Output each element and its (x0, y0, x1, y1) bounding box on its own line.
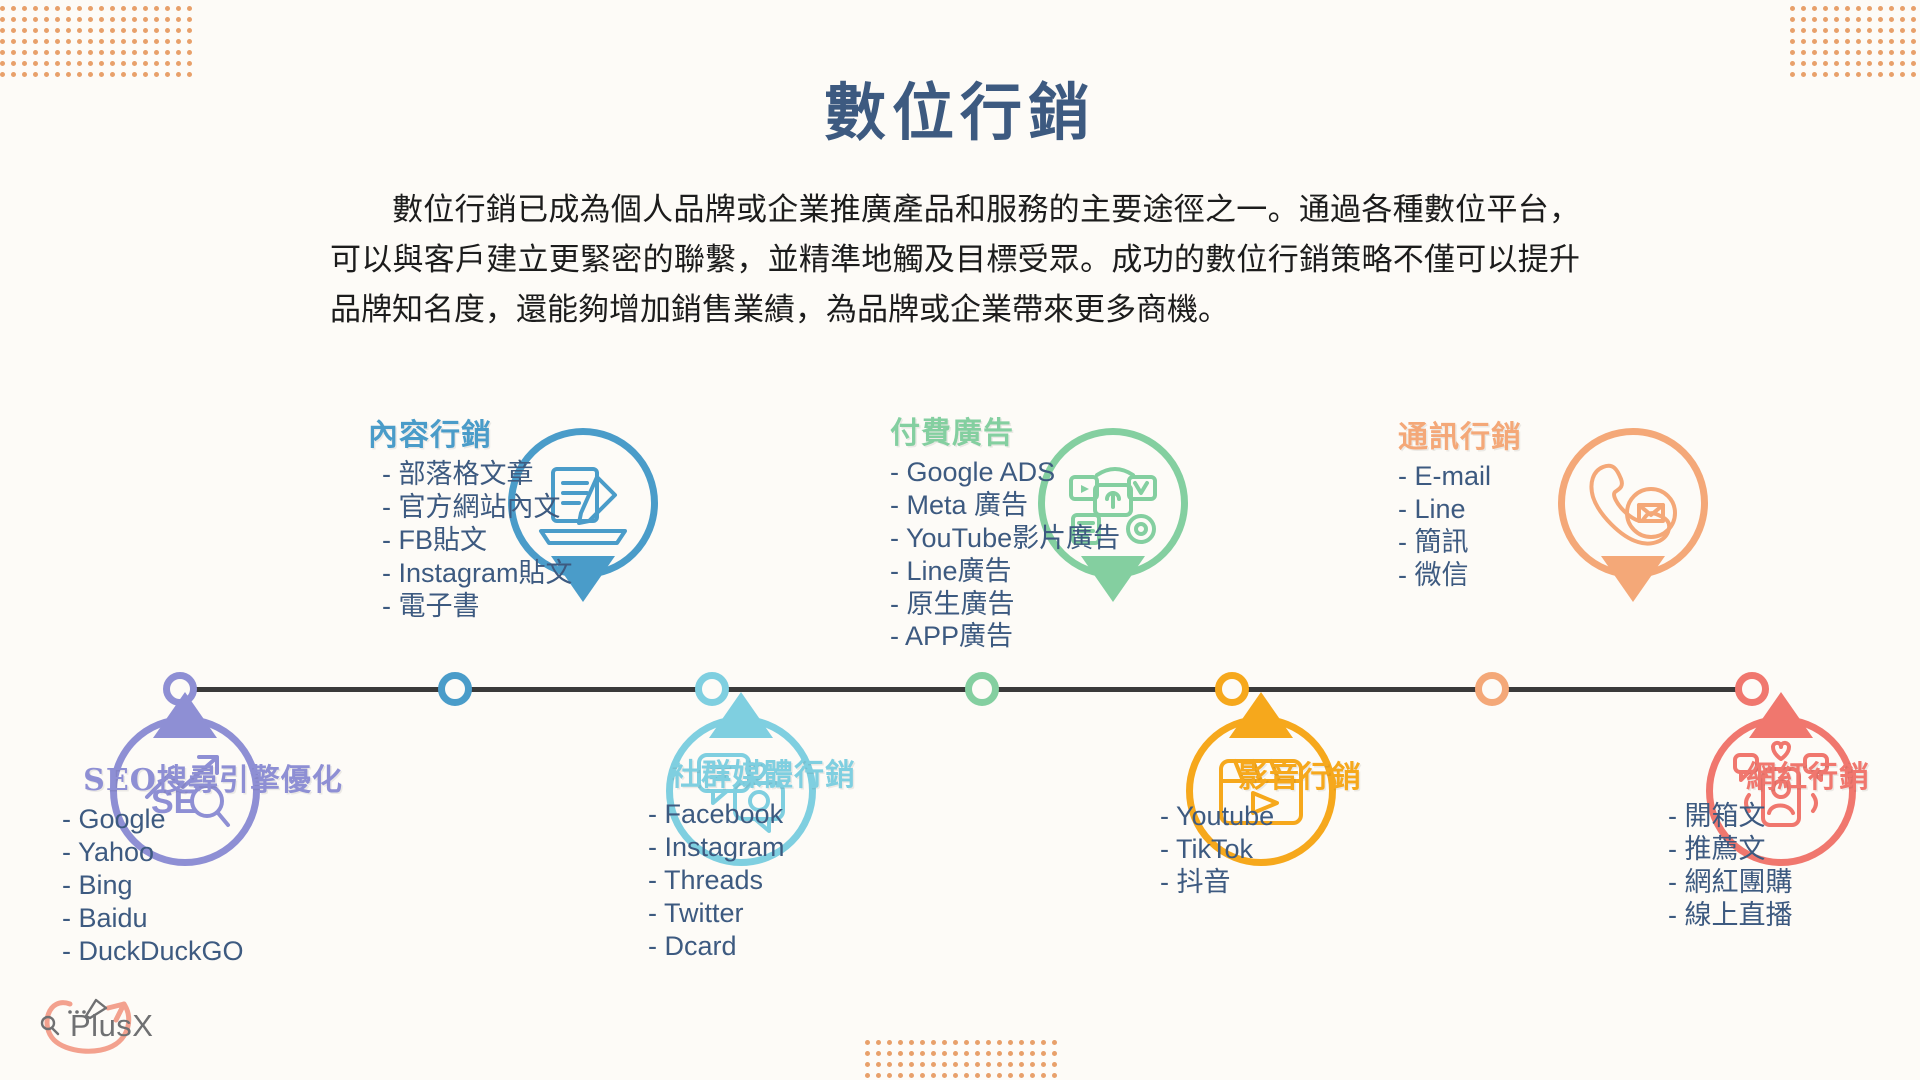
list-item: - Threads (648, 864, 928, 897)
list-item: - 線上直播 (1668, 899, 1920, 932)
dot-pattern-bottom-center (865, 1040, 1065, 1080)
section-list-content: - 部落格文章- 官方網站內文- FB貼文- Instagram貼文- 電子書 (368, 458, 698, 622)
list-item: - Facebook (648, 798, 928, 831)
list-item: - Line廣告 (890, 555, 1230, 588)
list-item: - APP廣告 (890, 620, 1230, 653)
list-item: - FB貼文 (382, 524, 698, 557)
list-item: - Instagram貼文 (382, 557, 698, 590)
section-title-seo: SEO搜尋引擎優化 (48, 755, 378, 799)
list-item: - E-mail (1398, 460, 1718, 493)
pin-tail (153, 692, 217, 738)
list-item: - 開箱文 (1668, 800, 1920, 833)
section-block-paid: 付費廣告- Google ADS- Meta 廣告- YouTube影片廣告- … (890, 408, 1230, 653)
timeline-node-paid[interactable] (965, 672, 999, 706)
list-item: - Google ADS (890, 456, 1230, 489)
list-item: - 微信 (1398, 559, 1718, 592)
list-item: - 抖音 (1160, 866, 1460, 899)
section-block-messaging: 通訊行銷- E-mail- Line- 簡訊- 微信 (1398, 412, 1718, 592)
list-item: - YouTube影片廣告 (890, 522, 1230, 555)
list-item: - 推薦文 (1668, 833, 1920, 866)
pin-tail (709, 692, 773, 738)
list-item: - 官方網站內文 (382, 491, 698, 524)
section-block-seo: SEO搜尋引擎優化- Google- Yahoo- Bing- Baidu- D… (48, 755, 378, 967)
list-item: - 電子書 (382, 590, 698, 623)
list-item: - Meta 廣告 (890, 489, 1230, 522)
section-block-video: 影音行銷- Youtube- TikTok- 抖音 (1140, 752, 1460, 899)
list-item: - Baidu (62, 902, 378, 935)
section-title-messaging: 通訊行銷 (1398, 412, 1718, 456)
section-title-video: 影音行銷 (1140, 752, 1460, 796)
list-item: - TikTok (1160, 833, 1460, 866)
section-title-social: 社群媒體行銷 (598, 750, 928, 794)
list-item: - Yahoo (62, 836, 378, 869)
list-item: - Bing (62, 869, 378, 902)
list-item: - Youtube (1160, 800, 1460, 833)
section-title-paid: 付費廣告 (890, 408, 1230, 452)
section-list-influencer: - 開箱文- 推薦文- 網紅團購- 線上直播 (1648, 800, 1920, 932)
section-list-paid: - Google ADS- Meta 廣告- YouTube影片廣告- Line… (890, 456, 1230, 653)
section-title-content: 內容行銷 (368, 410, 698, 454)
list-item: - Dcard (648, 930, 928, 963)
section-block-influencer: 網紅行銷- 開箱文- 推薦文- 網紅團購- 線上直播 (1648, 752, 1920, 932)
section-block-content: 內容行銷- 部落格文章- 官方網站內文- FB貼文- Instagram貼文- … (368, 410, 698, 622)
list-item: - 網紅團購 (1668, 866, 1920, 899)
section-block-social: 社群媒體行銷- Facebook- Instagram- Threads- Tw… (598, 750, 928, 962)
list-item: - Twitter (648, 897, 928, 930)
section-title-influencer: 網紅行銷 (1648, 752, 1920, 796)
intro-paragraph: 數位行銷已成為個人品牌或企業推廣產品和服務的主要途徑之一。通過各種數位平台，可以… (330, 185, 1580, 336)
plusx-logo: PlusX (18, 982, 178, 1062)
section-list-video: - Youtube- TikTok- 抖音 (1140, 800, 1460, 899)
timeline-node-messaging[interactable] (1475, 672, 1509, 706)
list-item: - Line (1398, 493, 1718, 526)
page-title: 數位行銷 (0, 62, 1920, 152)
list-item: - 原生廣告 (890, 588, 1230, 621)
section-list-social: - Facebook- Instagram- Threads- Twitter-… (598, 798, 928, 962)
list-item: - Google (62, 803, 378, 836)
pin-tail (1749, 692, 1813, 738)
list-item: - 簡訊 (1398, 526, 1718, 559)
section-list-seo: - Google- Yahoo- Bing- Baidu- DuckDuckGO (48, 803, 378, 967)
list-item: - 部落格文章 (382, 458, 698, 491)
timeline-node-content[interactable] (438, 672, 472, 706)
section-list-messaging: - E-mail- Line- 簡訊- 微信 (1398, 460, 1718, 592)
list-item: - DuckDuckGO (62, 935, 378, 968)
logo-text: PlusX (70, 1008, 153, 1044)
pin-tail (1229, 692, 1293, 738)
list-item: - Instagram (648, 831, 928, 864)
infographic-canvas: 數位行銷 數位行銷已成為個人品牌或企業推廣產品和服務的主要途徑之一。通過各種數位… (0, 0, 1920, 1080)
